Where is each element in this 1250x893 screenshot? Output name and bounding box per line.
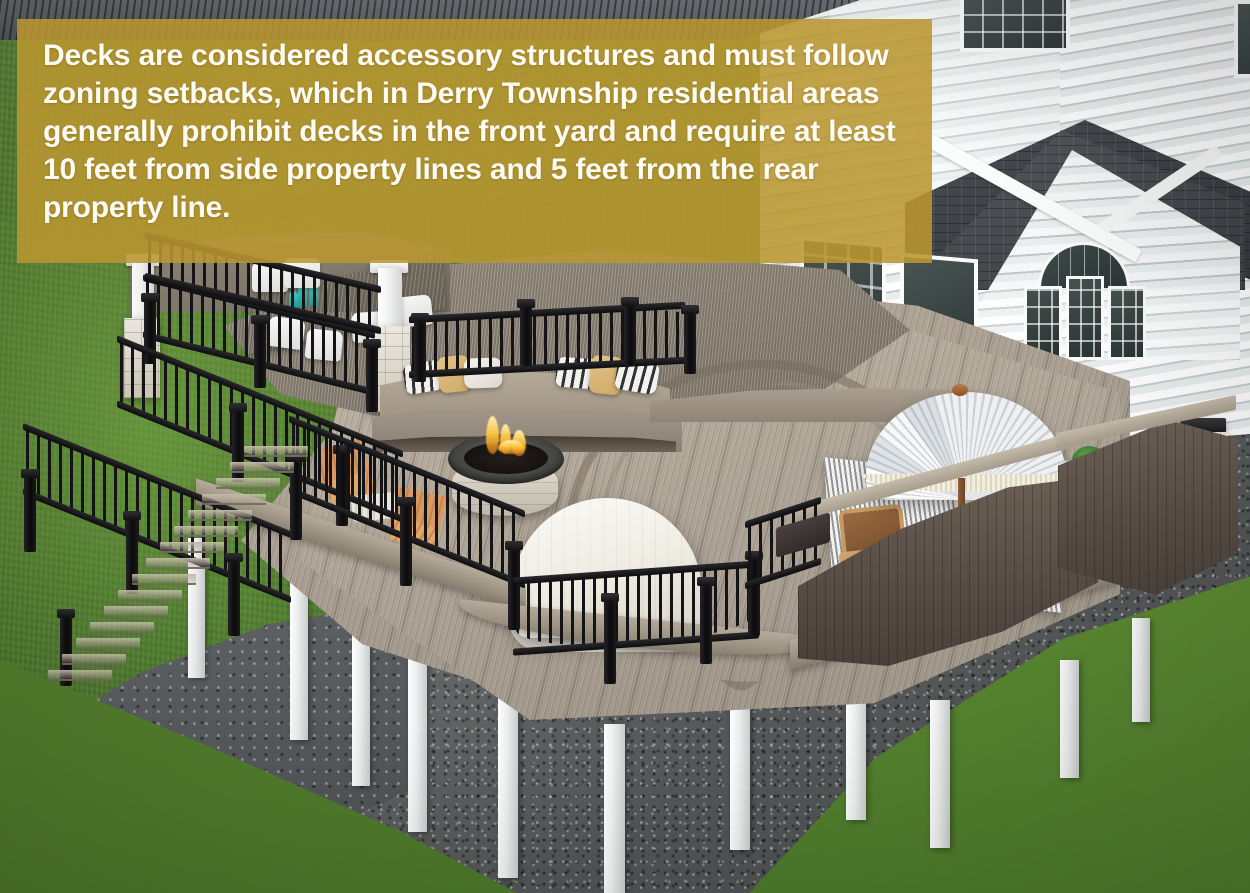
- railing-post-l5: [700, 584, 712, 664]
- stair-tread-8: [146, 558, 210, 569]
- porch-column-2: [378, 268, 402, 330]
- callout-paragraph: Decks are considered accessory structure…: [43, 37, 906, 227]
- stair-tread-6: [174, 526, 238, 537]
- stair-tread-9: [132, 574, 196, 585]
- palladian-window: [1010, 242, 1160, 360]
- railing-post-u2: [254, 322, 266, 388]
- support-post-9: [930, 700, 950, 848]
- right-edge-window: [1234, 0, 1250, 78]
- upper-story-window: [960, 0, 1070, 52]
- railing-post-l2: [400, 504, 412, 586]
- support-post-7: [730, 700, 750, 850]
- zoning-setback-callout: Decks are considered accessory structure…: [17, 19, 932, 263]
- railing-lower-curve: [516, 564, 756, 653]
- support-post-10: [1060, 660, 1079, 778]
- support-post-11: [1132, 618, 1150, 722]
- railing-post-l4: [604, 600, 616, 684]
- fire-pit-flame-4: [498, 440, 524, 454]
- railing-post-u5: [520, 306, 532, 366]
- railing-post-s3: [24, 476, 36, 552]
- stair-tread-11: [104, 606, 168, 617]
- stair-tread-4: [202, 494, 266, 505]
- stair-tread-12: [90, 622, 154, 633]
- deck-staircase: [40, 430, 320, 720]
- railing-post-u4: [414, 320, 426, 382]
- window-pane-right: [1108, 286, 1146, 360]
- stair-tread-1: [244, 446, 308, 457]
- stair-tread-13: [76, 638, 140, 649]
- stair-tread-14: [62, 654, 126, 665]
- railing-upper-curve: [412, 305, 682, 375]
- support-post-8: [846, 688, 866, 820]
- railing-post-u3: [366, 346, 378, 412]
- umbrella-finial: [952, 384, 968, 396]
- railing-post-u7: [684, 312, 696, 374]
- support-post-5: [498, 682, 518, 878]
- window-pane-center: [1066, 276, 1104, 360]
- window-pane-group: [1024, 286, 1146, 360]
- support-post-6: [604, 724, 625, 893]
- stair-tread-3: [216, 478, 280, 489]
- stair-tread-7: [160, 542, 224, 553]
- stair-tread-5: [188, 510, 252, 521]
- railing-post-u6: [624, 304, 636, 366]
- stair-tread-15: [48, 670, 112, 681]
- stair-tread-10: [118, 590, 182, 601]
- stair-tread-2: [230, 462, 294, 473]
- screenshot-root: Decks are considered accessory structure…: [0, 0, 1250, 893]
